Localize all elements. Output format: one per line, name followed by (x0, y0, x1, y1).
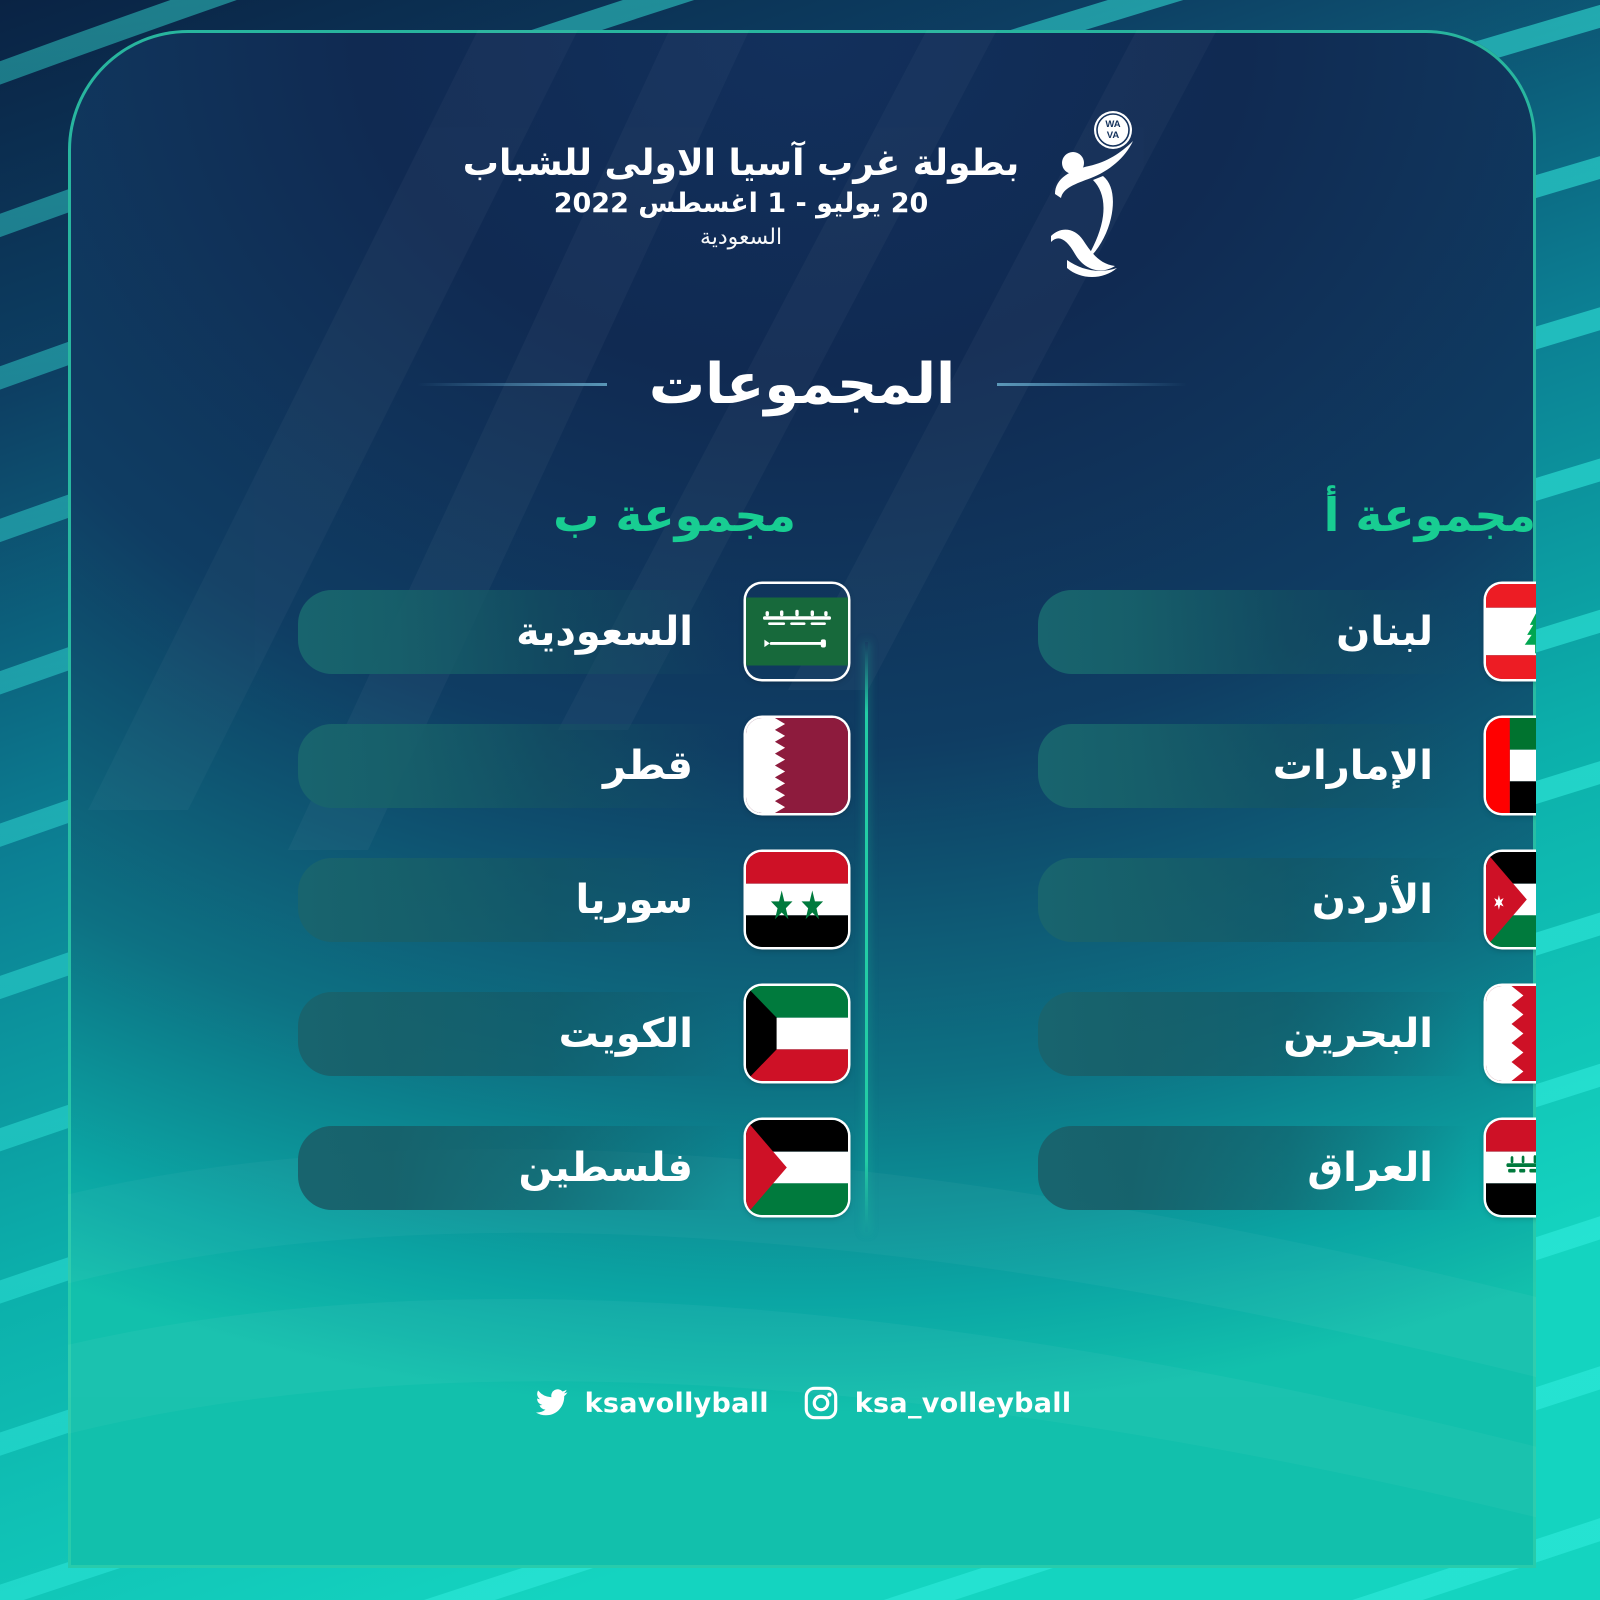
team-name: الكويت (559, 992, 693, 1076)
team-row[interactable]: الإمارات (888, 712, 1536, 820)
twitter-icon (533, 1385, 569, 1421)
team-row[interactable]: الكويت (148, 980, 848, 1088)
saudi-arabia-flag (746, 584, 848, 679)
twitter-handle: ksavollyball (585, 1388, 769, 1419)
qatar-flag (746, 718, 848, 813)
group-b-title: مجموعة ب (148, 470, 848, 578)
section-title-row: المجموعات (68, 352, 1536, 417)
wava-volleyball-logo: WA VA (1041, 108, 1141, 288)
social-footer: ksavollyball ksa_volleyball (68, 1385, 1536, 1421)
iraq-flag (1486, 1120, 1536, 1215)
lebanon-flag (1486, 584, 1536, 679)
syria-flag (746, 852, 848, 947)
page-title: المجموعات (649, 352, 955, 417)
team-name: لبنان (1336, 590, 1433, 674)
kuwait-flag (746, 986, 848, 1081)
team-name: السعودية (516, 590, 693, 674)
palestine-flag (746, 1120, 848, 1215)
group-a-column: مجموعة أ لبنان (888, 470, 1536, 1248)
title-rule-right (997, 383, 1187, 386)
team-name: الأردن (1312, 858, 1433, 942)
instagram-social-link[interactable]: ksa_volleyball (803, 1385, 1072, 1421)
team-row[interactable]: البحرين (888, 980, 1536, 1088)
team-row[interactable]: سوريا (148, 846, 848, 954)
team-row[interactable]: لبنان (888, 578, 1536, 686)
team-name: البحرين (1283, 992, 1433, 1076)
team-name: فلسطين (518, 1126, 693, 1210)
bahrain-flag (1486, 986, 1536, 1081)
group-a-title: مجموعة أ (888, 470, 1536, 578)
svg-text:VA: VA (1107, 130, 1120, 141)
tournament-dates: 20 يوليو - 1 اغسطس 2022 (463, 186, 1019, 222)
team-row[interactable]: السعودية (148, 578, 848, 686)
team-row[interactable]: قطر (148, 712, 848, 820)
twitter-social-link[interactable]: ksavollyball (533, 1385, 769, 1421)
tournament-location: السعودية (463, 223, 1019, 254)
jordan-flag (1486, 852, 1536, 947)
team-row[interactable]: العراق (888, 1114, 1536, 1222)
uae-flag (1486, 718, 1536, 813)
instagram-handle: ksa_volleyball (855, 1388, 1072, 1419)
group-b-column: مجموعة ب السعودية (148, 470, 848, 1248)
groups-area: مجموعة ب السعودية (68, 470, 1536, 1270)
team-name: سوريا (576, 858, 693, 942)
instagram-icon (803, 1385, 839, 1421)
tournament-header: WA VA بطولة غرب آسيا الاولى للشباب 20 يو… (68, 108, 1536, 288)
title-rule-left (417, 383, 607, 386)
group-divider (865, 642, 868, 1232)
team-row[interactable]: فلسطين (148, 1114, 848, 1222)
team-row[interactable]: الأردن (888, 846, 1536, 954)
team-name: الإمارات (1273, 724, 1433, 808)
tournament-title: بطولة غرب آسيا الاولى للشباب (463, 142, 1019, 186)
svg-text:WA: WA (1106, 119, 1121, 130)
team-name: العراق (1307, 1126, 1433, 1210)
team-name: قطر (603, 724, 693, 808)
main-card: WA VA بطولة غرب آسيا الاولى للشباب 20 يو… (68, 30, 1536, 1568)
